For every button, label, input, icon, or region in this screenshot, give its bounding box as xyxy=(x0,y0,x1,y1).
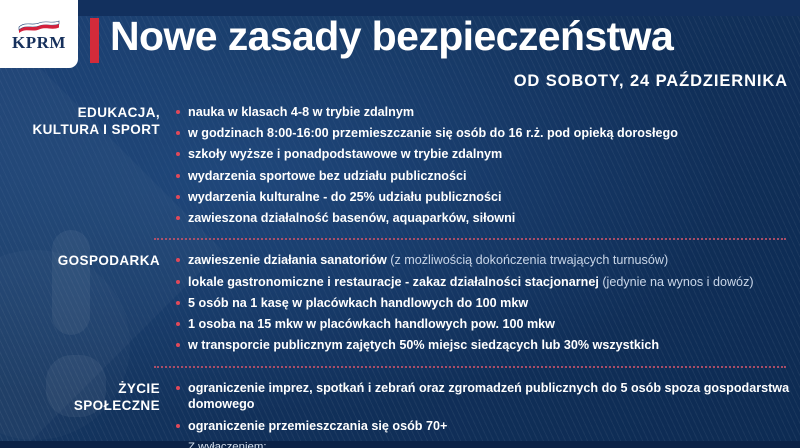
list-item: 5 osób na 1 kasę w placówkach handlowych… xyxy=(176,295,790,312)
section-label: EDUKACJA,KULTURA I SPORT xyxy=(0,104,176,139)
exclusions-sublist: Z wyłączeniem:- wykonywania czynności za… xyxy=(188,439,790,448)
section-label: GOSPODARKA xyxy=(0,252,176,269)
page-subtitle: OD SOBOTY, 24 PAŹDZIERNIKA xyxy=(90,72,788,91)
list-item-note: (z możliwością dokończenia trwających tu… xyxy=(387,253,668,267)
bullet-dot-icon xyxy=(176,343,180,347)
section-label: ŻYCIESPOŁECZNE xyxy=(0,380,176,415)
list-item: zawieszenie działania sanatoriów (z możl… xyxy=(176,252,790,269)
bullet-dot-icon xyxy=(176,386,180,390)
list-item: szkoły wyższe i ponadpodstawowe w trybie… xyxy=(176,146,790,163)
list-item-text: zawieszona działalność basenów, aquapark… xyxy=(188,210,515,227)
kprm-logo: KPRM xyxy=(0,0,78,68)
list-item: ograniczenie imprez, spotkań i zebrań or… xyxy=(176,380,790,413)
section-divider xyxy=(154,238,786,240)
logo-label: KPRM xyxy=(12,34,66,51)
bullet-dot-icon xyxy=(176,216,180,220)
list-item-text: w godzinach 8:00-16:00 przemieszczanie s… xyxy=(188,125,678,142)
section: ŻYCIESPOŁECZNEograniczenie imprez, spotk… xyxy=(0,376,800,448)
sections-container: EDUKACJA,KULTURA I SPORTnauka w klasach … xyxy=(0,100,800,448)
section-label-line: KULTURA I SPORT xyxy=(0,121,160,138)
list-item: w transporcie publicznym zajętych 50% mi… xyxy=(176,337,790,354)
list-item-text: wydarzenia kulturalne - do 25% udziału p… xyxy=(188,189,502,206)
bullet-dot-icon xyxy=(176,131,180,135)
list-item-text: w transporcie publicznym zajętych 50% mi… xyxy=(188,337,659,354)
list-item: wydarzenia sportowe bez udziału publiczn… xyxy=(176,168,790,185)
list-item: zawieszona działalność basenów, aquapark… xyxy=(176,210,790,227)
list-item-text: lokale gastronomiczne i restauracje - za… xyxy=(188,274,754,291)
bullet-dot-icon xyxy=(176,301,180,305)
list-item-note: (jedynie na wynos i dowóz) xyxy=(599,275,754,289)
bullet-dot-icon xyxy=(176,110,180,114)
list-item-text: 5 osób na 1 kasę w placówkach handlowych… xyxy=(188,295,528,312)
list-item-text: wydarzenia sportowe bez udziału publiczn… xyxy=(188,168,467,185)
list-item: w godzinach 8:00-16:00 przemieszczanie s… xyxy=(176,125,790,142)
list-item: 1 osoba na 15 mkw w placówkach handlowyc… xyxy=(176,316,790,333)
list-item: wydarzenia kulturalne - do 25% udziału p… xyxy=(176,189,790,206)
section-items: zawieszenie działania sanatoriów (z możl… xyxy=(176,252,800,358)
bullet-dot-icon xyxy=(176,322,180,326)
list-item: nauka w klasach 4-8 w trybie zdalnym xyxy=(176,104,790,121)
bullet-dot-icon xyxy=(176,152,180,156)
polish-flag-icon xyxy=(16,18,62,33)
sublist-heading: Z wyłączeniem: xyxy=(188,439,790,448)
list-item-text: 1 osoba na 15 mkw w placówkach handlowyc… xyxy=(188,316,555,333)
bullet-dot-icon xyxy=(176,174,180,178)
section: GOSPODARKAzawieszenie działania sanatori… xyxy=(0,248,800,358)
bullet-dot-icon xyxy=(176,424,180,428)
bullet-dot-icon xyxy=(176,258,180,262)
list-item-text: szkoły wyższe i ponadpodstawowe w trybie… xyxy=(188,146,502,163)
section-items: ograniczenie imprez, spotkań i zebrań or… xyxy=(176,380,800,448)
list-item-text: nauka w klasach 4-8 w trybie zdalnym xyxy=(188,104,414,121)
list-item-text: ograniczenie przemieszczania się osób 70… xyxy=(188,418,447,435)
bullet-dot-icon xyxy=(176,280,180,284)
infographic-poster: KPRM Nowe zasady bezpieczeństwa OD SOBOT… xyxy=(0,0,800,448)
bullet-dot-icon xyxy=(176,195,180,199)
title-accent-bar xyxy=(90,18,99,63)
list-item-text: zawieszenie działania sanatoriów (z możl… xyxy=(188,252,668,269)
section-label-line: EDUKACJA, xyxy=(0,104,160,121)
section-label-line: SPOŁECZNE xyxy=(0,397,160,414)
section-label-line: GOSPODARKA xyxy=(0,252,160,269)
page-title: Nowe zasady bezpieczeństwa xyxy=(110,16,673,56)
section-label-line: ŻYCIE xyxy=(0,380,160,397)
section-items: nauka w klasach 4-8 w trybie zdalnymw go… xyxy=(176,104,800,231)
section: EDUKACJA,KULTURA I SPORTnauka w klasach … xyxy=(0,100,800,231)
header-title-block: Nowe zasady bezpieczeństwa OD SOBOTY, 24… xyxy=(90,16,790,91)
list-item-text: ograniczenie imprez, spotkań i zebrań or… xyxy=(188,380,790,413)
section-divider xyxy=(154,366,786,368)
list-item: ograniczenie przemieszczania się osób 70… xyxy=(176,418,790,435)
list-item: lokale gastronomiczne i restauracje - za… xyxy=(176,274,790,291)
